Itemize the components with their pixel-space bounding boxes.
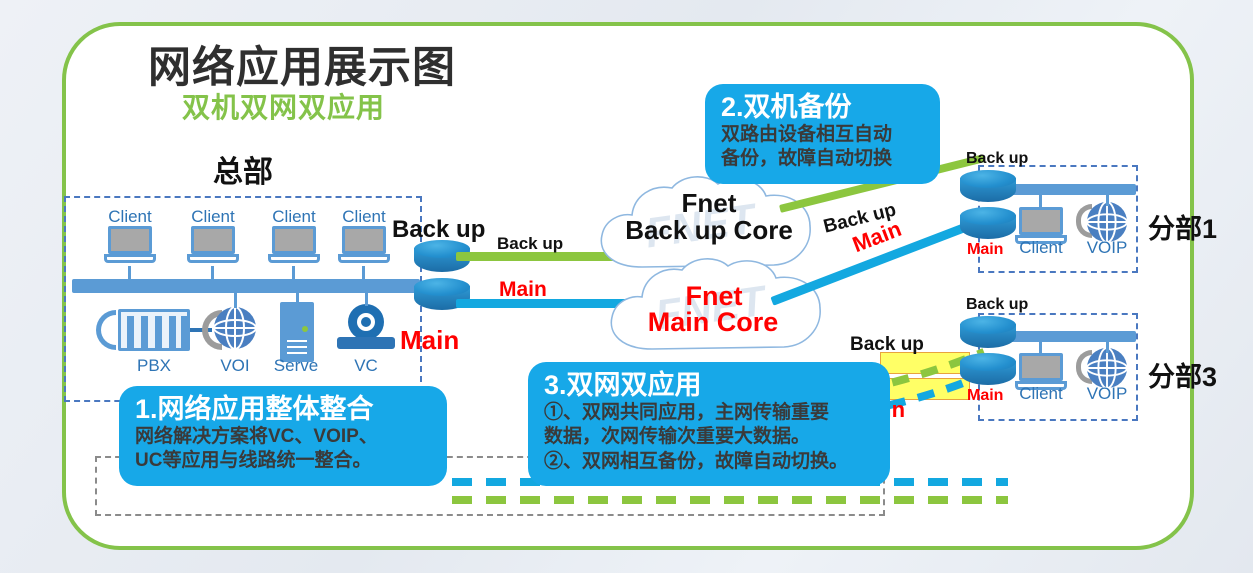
page-subtitle: 双机双网双应用 xyxy=(182,86,385,126)
callout-3-line-3: ②、双网相互备份，故障自动切换。 xyxy=(544,450,874,474)
b1-voip-label: VOIP xyxy=(1079,239,1135,256)
callout-2[interactable]: 2.双机备份 双路由设备相互自动 备份，故障自动切换 xyxy=(705,84,940,184)
client-1-label: Client xyxy=(102,208,158,225)
diagram-canvas: 网络应用展示图 双机双网双应用 总部 Client Client Client … xyxy=(0,0,1253,573)
voip-label: VOI xyxy=(207,357,263,374)
client-1 xyxy=(104,226,156,266)
client-2-label: Client xyxy=(185,208,241,225)
vc-camera-icon xyxy=(348,304,384,340)
callout-1-line-1: 网络解决方案将VC、VOIP、 xyxy=(135,425,431,449)
callout-3-line-1: ①、双网共同应用，主网传输重要 xyxy=(544,401,874,425)
hq-main-link-label: Main xyxy=(499,278,547,302)
branch-3-label: 分部3 xyxy=(1148,355,1217,394)
b3-voip-label: VOIP xyxy=(1079,385,1135,402)
hq-backup-link-label: Back up xyxy=(497,234,563,254)
client-3 xyxy=(268,226,320,266)
callout-2-line-2: 备份，故障自动切换 xyxy=(721,147,924,171)
vc-label: VC xyxy=(338,357,394,374)
b1-router-main xyxy=(960,207,1016,245)
client-4 xyxy=(338,226,390,266)
b3-router-main-label: Main xyxy=(967,387,1003,405)
pbx-icon xyxy=(118,309,190,351)
callout-3[interactable]: 3.双网双应用 ①、双网共同应用，主网传输重要 数据，次网传输次重要大数据。 ②… xyxy=(528,362,890,486)
backup-core-label-line1: Fnet xyxy=(614,190,804,216)
b3-router-main xyxy=(960,353,1016,391)
server-icon xyxy=(280,302,314,362)
b1-router-backup xyxy=(960,170,1016,208)
callout-2-line-1: 双路由设备相互自动 xyxy=(721,123,924,147)
b3-voip-link xyxy=(1106,341,1109,353)
b3-client-label: Client xyxy=(1013,385,1069,402)
callout-1-heading: 1.网络应用整体整合 xyxy=(135,394,431,425)
b3-client-link xyxy=(1039,341,1042,355)
headquarters-title: 总部 xyxy=(213,147,273,191)
callout-2-heading: 2.双机备份 xyxy=(721,92,924,123)
client-2-link xyxy=(211,266,214,282)
hq-router-backup-label: Back up xyxy=(392,216,485,244)
client-4-label: Client xyxy=(336,208,392,225)
client-2 xyxy=(187,226,239,266)
b3-router-backup-label: Back up xyxy=(966,296,1028,314)
callout-1-line-2: UC等应用与线路统一整合。 xyxy=(135,449,431,473)
b1-client-label: Client xyxy=(1013,239,1069,256)
client-3-link xyxy=(292,266,295,282)
b1-router-main-label: Main xyxy=(967,241,1003,259)
vc-camera-base xyxy=(337,337,395,349)
hq-router-main-label: Main xyxy=(400,325,459,356)
client-1-link xyxy=(128,266,131,282)
callout-3-line-2: 数据，次网传输次重要大数据。 xyxy=(544,425,874,449)
voip-globe-icon xyxy=(212,305,258,351)
b1-voip-link xyxy=(1106,194,1109,206)
branch-1-label: 分部1 xyxy=(1148,207,1217,246)
server-label: Serve xyxy=(268,357,324,374)
b1-client-link xyxy=(1039,194,1042,208)
branch3-backup-link-label: Back up xyxy=(850,334,924,356)
vc-link xyxy=(365,290,368,306)
client-4-link xyxy=(362,266,365,282)
b3-router-backup xyxy=(960,316,1016,354)
callout-3-heading: 3.双网双应用 xyxy=(544,370,874,401)
voip-link xyxy=(234,290,237,308)
server-link xyxy=(296,290,299,304)
pbx-label: PBX xyxy=(126,357,182,374)
client-3-label: Client xyxy=(266,208,322,225)
hq-router-main xyxy=(414,278,470,316)
callout-1[interactable]: 1.网络应用整体整合 网络解决方案将VC、VOIP、 UC等应用与线路统一整合。 xyxy=(119,386,447,486)
backup-core-label-line2: Back up Core xyxy=(604,217,814,243)
b1-router-backup-label: Back up xyxy=(966,150,1028,168)
